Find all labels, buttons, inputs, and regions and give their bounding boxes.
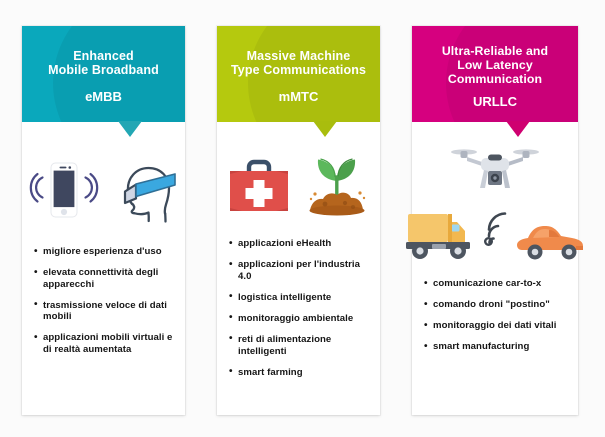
card-body-embb: migliore esperienza d'uso elevata connet… [22,122,185,415]
card-title-mmtc: Massive Machine Type Communications [231,49,366,78]
list-item: applicazioni mobili virtuali e di realtà… [34,332,175,355]
list-item: elevata connettività degli apparecchi [34,267,175,290]
list-item: migliore esperienza d'uso [34,246,175,258]
card-title-embb: Enhanced Mobile Broadband [48,49,159,78]
smartphone-signal-icon [25,157,103,223]
list-item: comando droni "postino" [424,299,568,311]
card-header-embb: Enhanced Mobile Broadband eMBB [22,26,185,122]
list-item: comunicazione car-to-x [424,278,568,290]
card-title-line3: Communication [448,72,542,86]
list-item: applicazioni per l'industria 4.0 [229,259,370,282]
card-abbreviation-mmtc: mMTC [231,89,366,104]
card-title-line1: Enhanced [73,49,134,63]
card-abbreviation-urllc: URLLC [442,94,548,109]
card-title-line1: Ultra-Reliable and [442,44,548,58]
car-icon [516,216,586,264]
list-item: reti di alimentazione intelligenti [229,334,370,357]
seedling-soil-icon [298,147,376,221]
icon-row-vehicles [412,202,578,264]
list-item: monitoraggio dei dati vitali [424,320,568,332]
header-text-urllc: Ultra-Reliable and Low Latency Communica… [442,44,548,109]
header-text-embb: Enhanced Mobile Broadband eMBB [48,49,159,104]
card-title-line2: Low Latency [457,58,533,72]
list-item: applicazioni eHealth [229,238,370,250]
header-text-mmtc: Massive Machine Type Communications mMTC [231,49,366,104]
list-item: logistica intelligente [229,292,370,304]
card-header-urllc: Ultra-Reliable and Low Latency Communica… [412,26,578,122]
card-mmtc[interactable]: Massive Machine Type Communications mMTC [217,26,380,415]
bullet-list-mmtc: applicazioni eHealth applicazioni per l'… [217,236,380,378]
list-item: monitoraggio ambientale [229,313,370,325]
card-abbreviation-embb: eMBB [48,89,159,104]
bullet-list-urllc: comunicazione car-to-x comando droni "po… [412,264,578,353]
wifi-signal-icon [480,208,514,264]
first-aid-kit-icon [222,150,296,218]
icon-row-mmtc [217,122,380,236]
drone-icon [447,140,543,202]
list-item: smart manufacturing [424,341,568,353]
bullet-list-embb: migliore esperienza d'uso elevata connet… [22,242,185,356]
truck-icon [404,206,478,264]
card-body-urllc: comunicazione car-to-x comando droni "po… [412,122,578,415]
card-header-mmtc: Massive Machine Type Communications mMTC [217,26,380,122]
icon-row-embb [22,122,185,242]
card-title-urllc: Ultra-Reliable and Low Latency Communica… [442,44,548,86]
icon-row-drone [412,122,578,202]
vr-headset-head-icon [109,155,183,225]
card-title-line2: Mobile Broadband [48,63,159,77]
card-body-mmtc: applicazioni eHealth applicazioni per l'… [217,122,380,415]
card-title-line1: Massive Machine [247,49,351,63]
card-embb[interactable]: Enhanced Mobile Broadband eMBB [22,26,185,415]
card-urllc[interactable]: Ultra-Reliable and Low Latency Communica… [412,26,578,415]
use-case-board: Enhanced Mobile Broadband eMBB [0,0,605,437]
list-item: trasmissione veloce di dati mobili [34,300,175,323]
card-title-line2: Type Communications [231,63,366,77]
list-item: smart farming [229,367,370,379]
